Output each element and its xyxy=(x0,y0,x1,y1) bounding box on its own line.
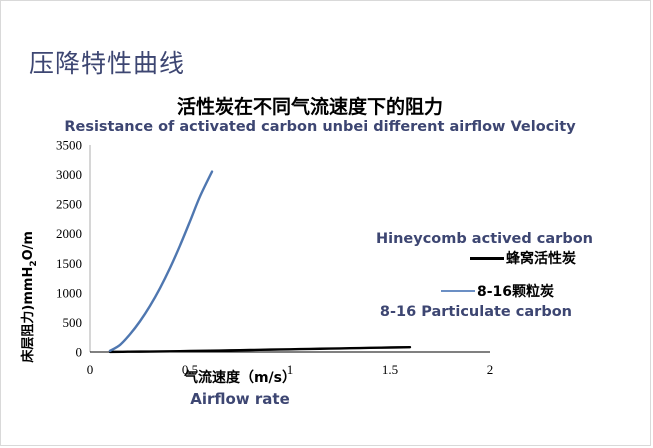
y-tick-label: 0 xyxy=(76,345,83,360)
y-tick-label: 3000 xyxy=(56,167,82,182)
legend-label-honeycomb: 蜂窝活性炭 xyxy=(506,248,576,268)
y-tick-label: 3500 xyxy=(56,138,82,153)
series-line-particulate xyxy=(110,172,212,351)
legend-label-particulate: 8-16颗粒炭 xyxy=(477,281,554,301)
legend-footer-english: 8-16 Particulate carbon xyxy=(376,304,576,320)
legend-swatch-black-icon xyxy=(470,257,504,260)
y-tick-label: 1500 xyxy=(56,256,82,271)
chart-container: 活性炭在不同气流速度下的阻力 Resistance of activated c… xyxy=(0,86,653,446)
series-line-honeycomb xyxy=(110,347,410,352)
y-tick-label: 2500 xyxy=(56,197,82,212)
legend-header-english: Hineycomb actived carbon xyxy=(376,231,576,247)
y-tick-label: 2000 xyxy=(56,226,82,241)
legend-spacer xyxy=(376,268,576,280)
y-axis-tick-labels: 0500100015002000250030003500 xyxy=(56,138,82,360)
legend-swatch-blue-icon xyxy=(441,290,475,292)
chart-legend: Hineycomb actived carbon 蜂窝活性炭 8-16颗粒炭 8… xyxy=(376,231,576,320)
legend-item-honeycomb[interactable]: 蜂窝活性炭 xyxy=(376,248,576,268)
y-tick-label: 500 xyxy=(63,315,83,330)
legend-item-particulate[interactable]: 8-16颗粒炭 xyxy=(376,281,576,301)
slide-title: 压降特性曲线 xyxy=(29,44,185,80)
y-tick-label: 1000 xyxy=(56,285,82,300)
x-axis-title-english: Airflow rate xyxy=(90,390,390,408)
x-axis-title-chinese: 气流速度（m/s） xyxy=(90,367,390,387)
x-tick-label: 2 xyxy=(487,362,494,377)
